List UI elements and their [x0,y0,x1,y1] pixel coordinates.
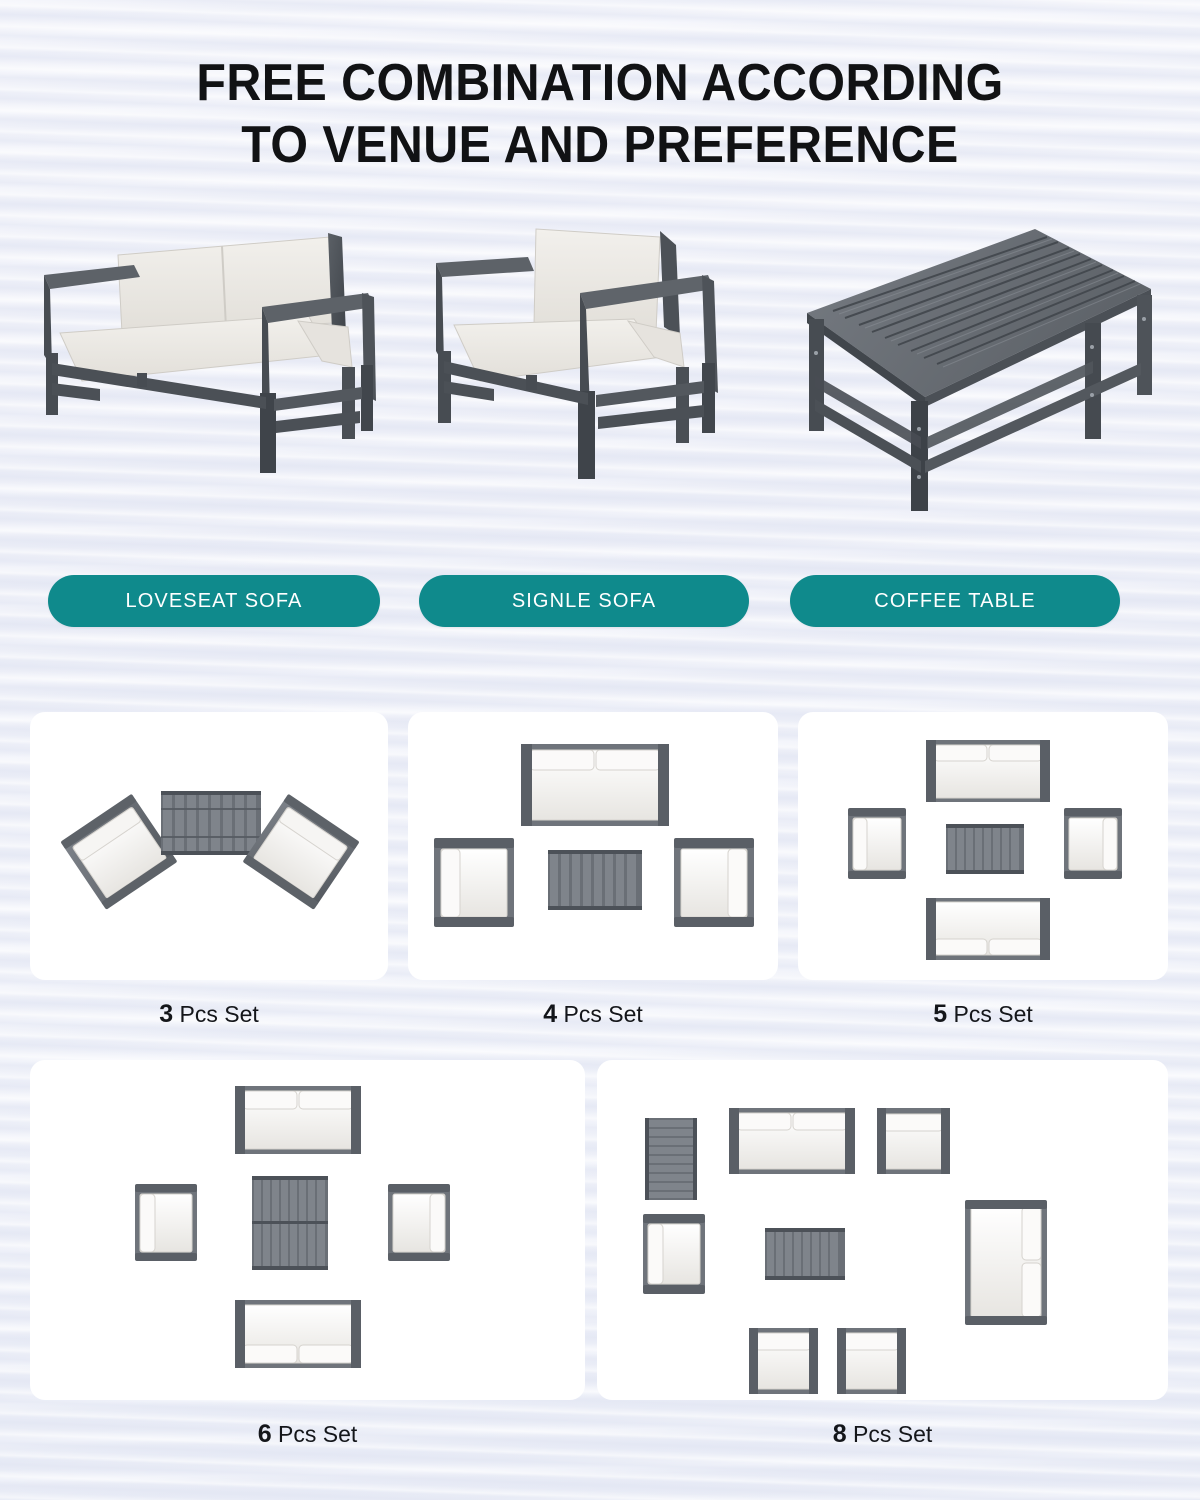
set-card-5-pcs[interactable] [798,712,1168,980]
set-card-4-pcs[interactable] [408,712,778,980]
piece-single-sofa [60,794,177,910]
piece-coffee-table [161,791,261,855]
page-title-line-1: FREE COMBINATION ACCORDING [42,52,1158,114]
set-count: 6 [258,1420,272,1448]
page-title: FREE COMBINATION ACCORDING TO VENUE AND … [0,52,1200,176]
piece-coffee-table [548,850,642,910]
set-caption-8-pcs: 8 Pcs Set [597,1420,1168,1448]
piece-coffee-table [946,824,1024,874]
set-caption-3-pcs: 3 Pcs Set [30,1000,388,1028]
set-card-8-pcs[interactable] [597,1060,1168,1400]
piece-loveseat-sofa [521,744,669,826]
set-card-6-pcs[interactable] [30,1060,585,1400]
piece-single-sofa [837,1328,906,1394]
set-suffix: Pcs Set [847,1421,933,1447]
set-count: 8 [833,1420,847,1448]
set-suffix: Pcs Set [947,1001,1033,1027]
set-suffix: Pcs Set [557,1001,643,1027]
set-count: 5 [933,1000,947,1028]
piece-single-sofa [434,838,514,927]
piece-loveseat-sofa [926,898,1050,960]
piece-single-sofa [848,808,906,879]
piece-single-sofa [388,1184,450,1261]
set-caption-4-pcs: 4 Pcs Set [408,1000,778,1028]
coffee-table-photo [785,215,1170,535]
loveseat-sofa-photo [30,215,400,535]
piece-loveseat-sofa [729,1108,855,1174]
set-count: 4 [543,1000,557,1028]
page-title-line-2: TO VENUE AND PREFERENCE [42,114,1158,176]
product-label-text: SIGNLE SOFA [512,590,656,613]
piece-loveseat-sofa [926,740,1050,802]
set-count: 3 [159,1000,173,1028]
piece-single-sofa [749,1328,818,1394]
piece-coffee-table [645,1118,697,1200]
product-photo-row [0,215,1200,535]
product-label-loveseat-sofa[interactable]: LOVESEAT SOFA [48,575,380,627]
piece-single-sofa [643,1214,705,1294]
piece-loveseat-sofa [235,1300,361,1368]
piece-loveseat-sofa [235,1086,361,1154]
set-suffix: Pcs Set [272,1421,358,1447]
piece-single-sofa [674,838,754,927]
product-label-text: LOVESEAT SOFA [126,590,303,613]
set-card-3-pcs[interactable] [30,712,388,980]
product-label-single-sofa[interactable]: SIGNLE SOFA [419,575,749,627]
piece-coffee-table [765,1228,845,1280]
piece-loveseat-sofa [965,1200,1047,1325]
set-caption-5-pcs: 5 Pcs Set [798,1000,1168,1028]
set-caption-6-pcs: 6 Pcs Set [30,1420,585,1448]
set-suffix: Pcs Set [173,1001,259,1027]
product-label-coffee-table[interactable]: COFFEE TABLE [790,575,1120,627]
piece-single-sofa [135,1184,197,1261]
piece-single-sofa [877,1108,950,1174]
piece-single-sofa [1064,808,1122,879]
product-label-text: COFFEE TABLE [874,590,1035,613]
single-sofa-photo [418,215,763,535]
piece-coffee-table [252,1176,328,1270]
